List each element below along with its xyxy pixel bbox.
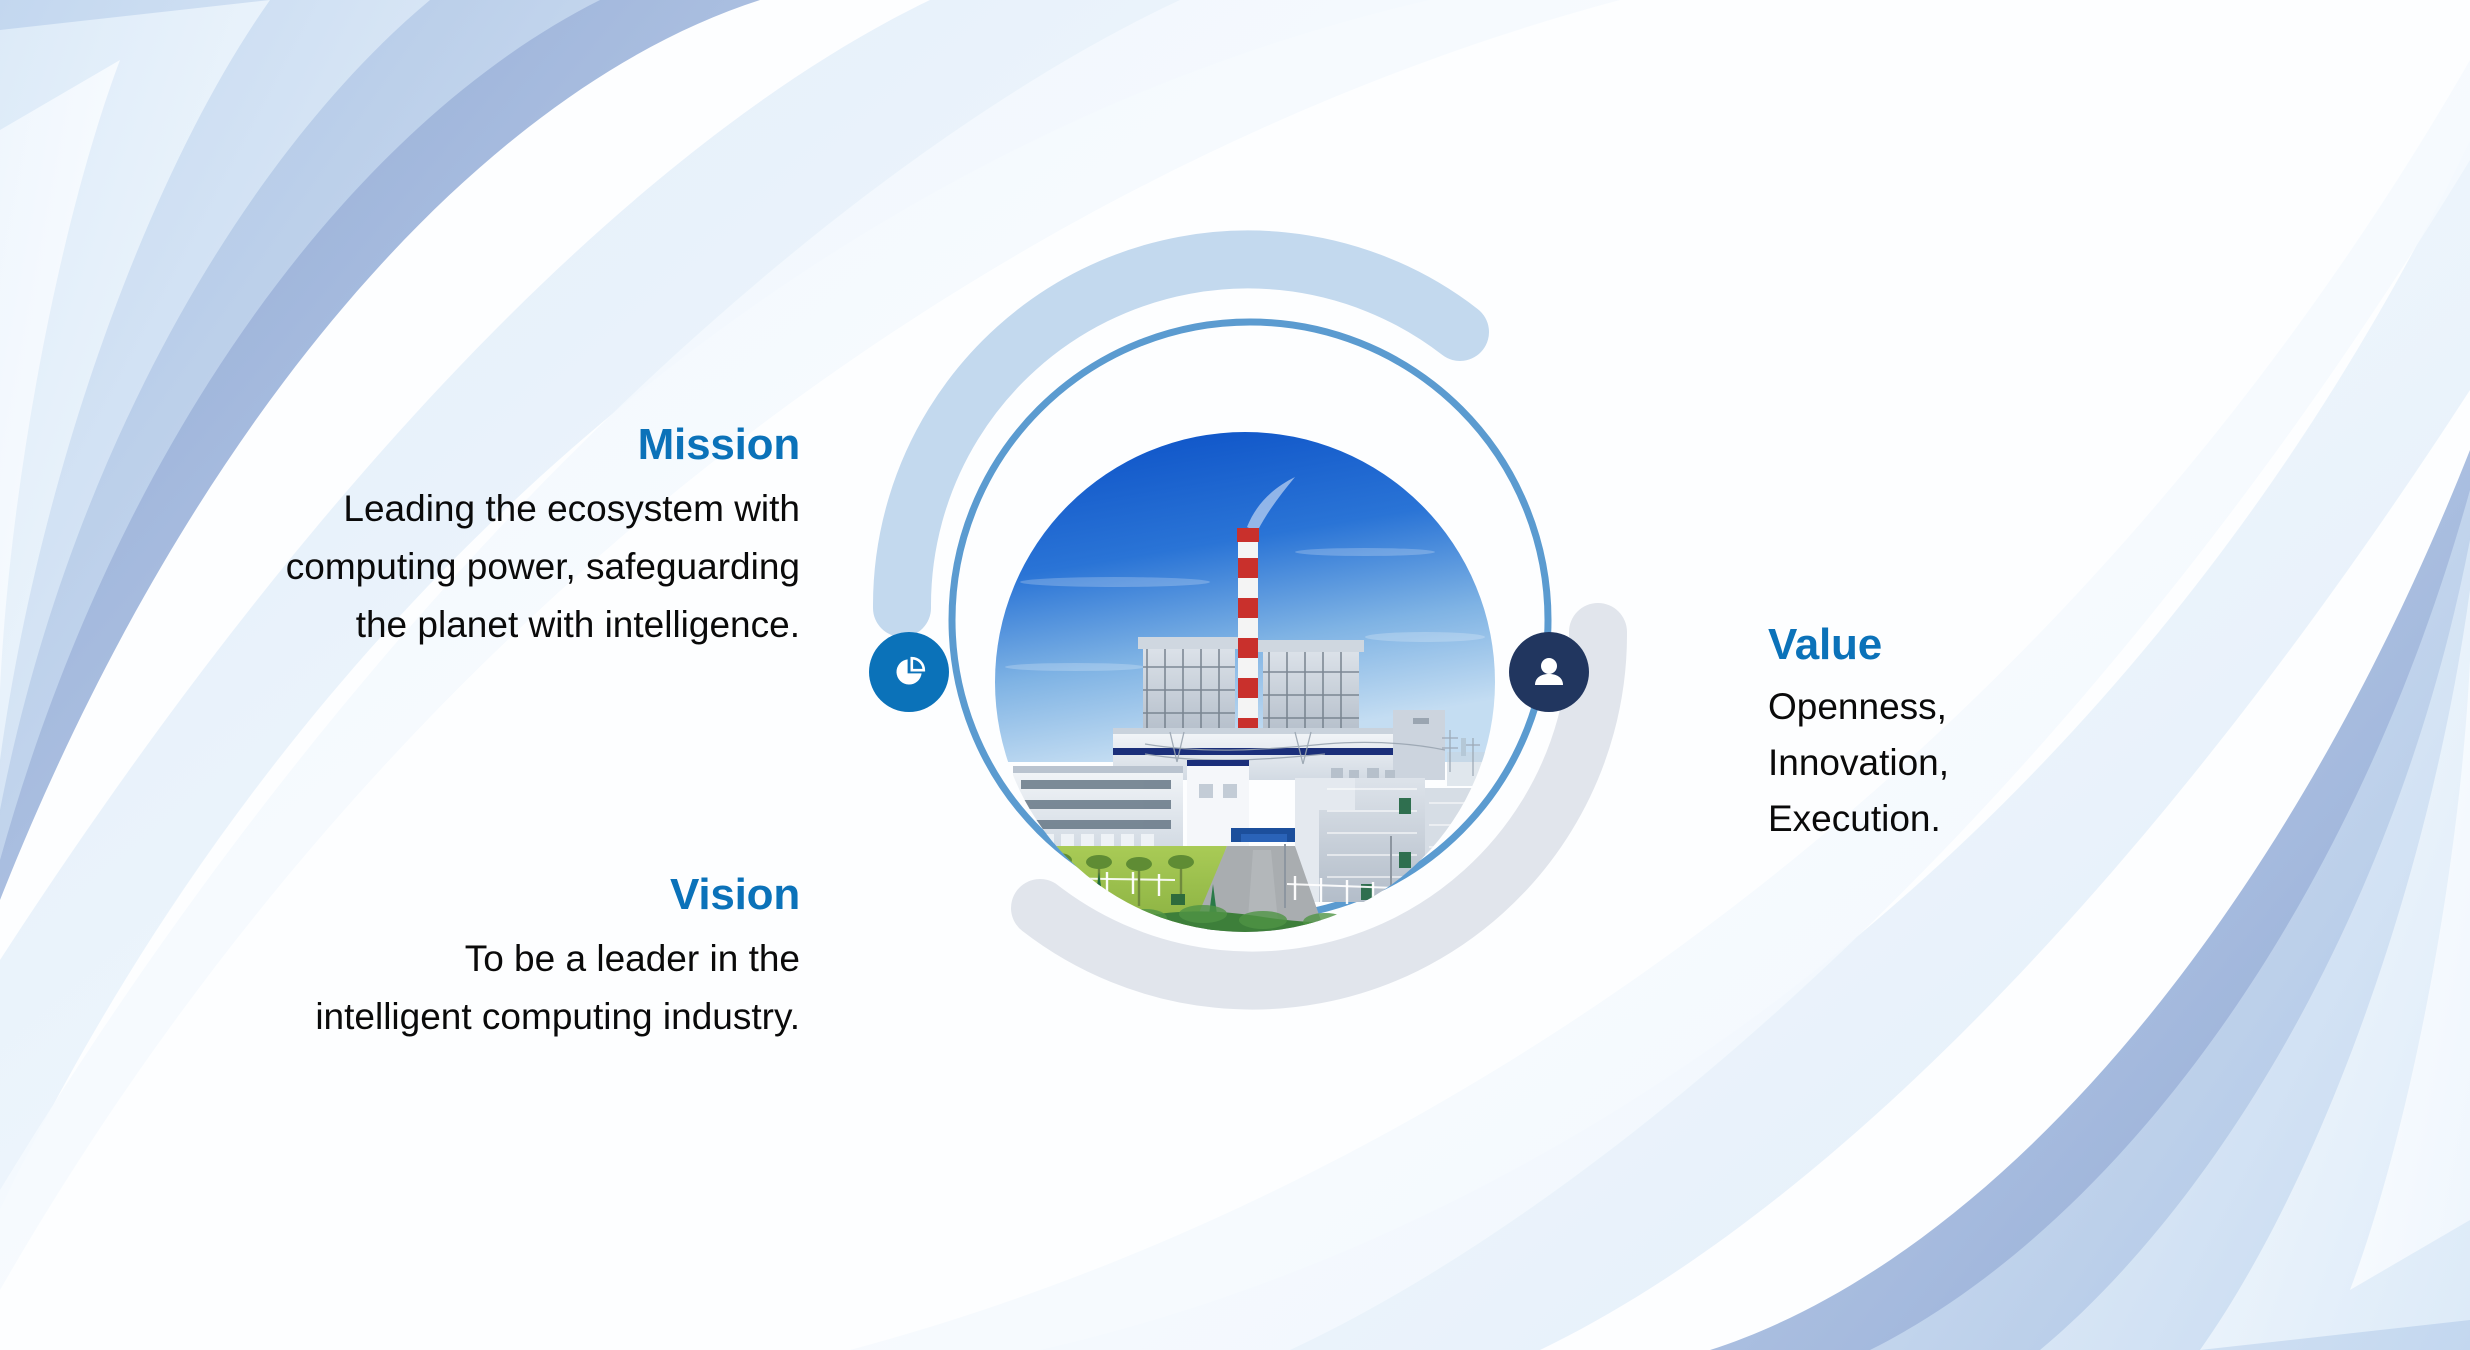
chimney bbox=[1237, 528, 1259, 737]
badge-person[interactable] bbox=[1509, 632, 1589, 712]
value-line-3: Execution. bbox=[1768, 791, 2368, 847]
center-image-circle bbox=[995, 432, 1495, 932]
power-plant-photo bbox=[995, 432, 1495, 932]
value-heading: Value bbox=[1768, 620, 2368, 671]
mission-line-3: the planet with intelligence. bbox=[0, 597, 800, 653]
mission-line-2: computing power, safeguarding bbox=[0, 539, 800, 595]
pie-chart-icon bbox=[889, 652, 929, 692]
mission-line-1: Leading the ecosystem with bbox=[0, 481, 800, 537]
vision-line-1: To be a leader in the bbox=[0, 931, 800, 987]
vision-block: Vision To be a leader in the intelligent… bbox=[0, 870, 800, 1045]
value-block: Value Openness, Innovation, Execution. bbox=[1768, 620, 2368, 847]
mission-block: Mission Leading the ecosystem with compu… bbox=[0, 420, 800, 653]
mission-heading: Mission bbox=[0, 420, 800, 471]
badge-pie-chart[interactable] bbox=[869, 632, 949, 712]
value-line-2: Innovation, bbox=[1768, 735, 2368, 791]
vision-line-2: intelligent computing industry. bbox=[0, 989, 800, 1045]
person-icon bbox=[1529, 652, 1569, 692]
slide-stage: Mission Leading the ecosystem with compu… bbox=[0, 0, 2470, 1350]
vision-heading: Vision bbox=[0, 870, 800, 921]
value-line-1: Openness, bbox=[1768, 679, 2368, 735]
